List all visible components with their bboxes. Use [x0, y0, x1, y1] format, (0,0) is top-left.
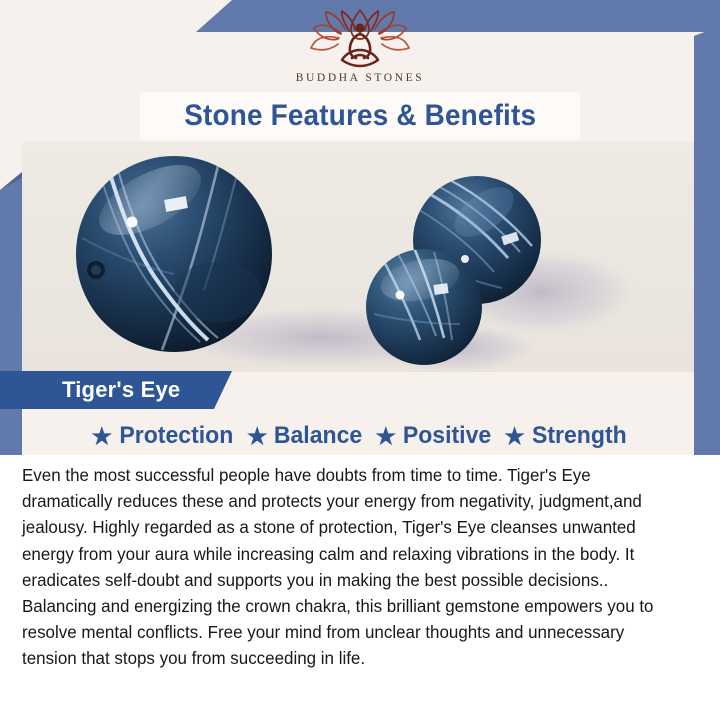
stone-name-label: Tiger's Eye — [0, 377, 180, 403]
page-title-text: Stone Features & Benefits — [184, 99, 536, 133]
star-icon: ★ — [504, 425, 525, 448]
benefit-label: Positive — [403, 422, 491, 450]
benefit-label: Balance — [274, 422, 362, 450]
page-title: Stone Features & Benefits — [140, 92, 580, 140]
description-panel: Even the most successful people have dou… — [0, 455, 720, 720]
star-icon: ★ — [92, 425, 113, 448]
benefit-item-protection: ★ Protection — [92, 422, 236, 450]
benefits-list: ★ Protection ★ Balance ★ Positive ★ Stre… — [0, 418, 720, 454]
star-icon: ★ — [247, 425, 268, 448]
brand-name: BUDDHA STONES — [296, 72, 424, 84]
benefit-item-balance: ★ Balance — [247, 422, 365, 450]
benefit-item-strength: ★ Strength — [504, 422, 628, 450]
benefit-label: Protection — [120, 422, 234, 450]
infographic-page: BUDDHA STONES Stone Features & Benefits — [0, 0, 720, 720]
star-icon: ★ — [376, 425, 397, 448]
decorative-right-bar — [694, 26, 720, 474]
benefit-item-positive: ★ Positive — [376, 422, 494, 450]
description-text: Even the most successful people have dou… — [22, 462, 681, 672]
stone-name-banner: Tiger's Eye — [0, 371, 232, 409]
stone-photo — [22, 142, 694, 372]
brand-logo: BUDDHA STONES — [0, 8, 720, 84]
lotus-meditation-icon — [308, 8, 412, 70]
benefit-label: Strength — [532, 422, 627, 450]
